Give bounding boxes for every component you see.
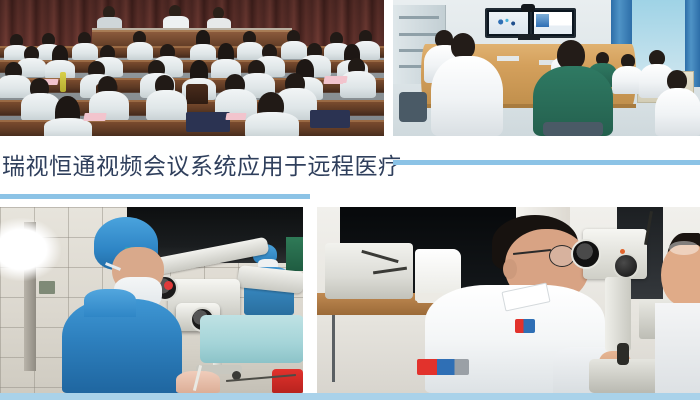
audience-coat [72,43,98,60]
participant-coat [431,56,503,136]
chest-logo [515,319,535,333]
slitlamp-eyepiece [571,239,601,269]
audience-coat [127,42,153,60]
title-rule-right [393,160,700,165]
audience-coat [190,44,216,61]
monitor-stand [518,34,540,40]
slitlamp-column [605,277,631,351]
desk-leg [332,315,335,382]
patient-forehead-highlight [669,241,699,255]
footer-accent-band [0,393,700,400]
slitlamp-scene [317,207,700,393]
chair [543,122,603,136]
pink-paper [83,113,106,121]
page-title: 瑞视恒通视频会议系统应用于远程医疗 [2,153,402,181]
sleeve-logo [417,359,469,375]
photo-auditorium [0,0,384,136]
monitor-right-screen [534,12,572,34]
auditorium-scene [0,0,384,136]
audience-coat [281,41,307,59]
red-stool [272,369,303,393]
title-underline [0,194,310,199]
chair-back [186,84,208,104]
meeting-room-scene [393,0,700,136]
photo-slitlamp [317,207,700,393]
tabletop-document [497,56,519,61]
water-bottle [60,72,66,92]
monitor-left-screen [489,12,528,34]
pink-paper [323,76,344,84]
photo-meeting-room [393,0,700,136]
light-glare [0,218,61,281]
patient-shoulder [655,303,700,393]
wall-switch [39,281,54,294]
page-root: 瑞视恒通视频会议系统应用于远程医疗 [0,0,700,400]
slitlamp-knob [613,253,639,279]
microscope-indicator [164,281,173,290]
cabinet-shelf [399,16,439,19]
surgical-drape [200,315,303,363]
slitlamp-knob-dot [620,249,625,254]
participant-coat [655,88,700,136]
surgery-scene [0,207,303,393]
photo-surgery [0,207,303,393]
slitlamp-joystick [617,343,629,365]
audience-coat [146,90,187,121]
doctor-ear [503,259,517,279]
green-drape [286,237,303,271]
conference-camera-icon [521,4,535,12]
navy-folder [186,112,230,132]
title-band: 瑞视恒通视频会议系统应用于远程医疗 [0,136,700,207]
audience-coat [245,112,299,136]
chair [399,92,427,122]
surgeon-shoulder [84,289,136,317]
cabinet-shelf [399,33,439,36]
pink-paper [225,113,246,120]
navy-folder [310,110,350,128]
